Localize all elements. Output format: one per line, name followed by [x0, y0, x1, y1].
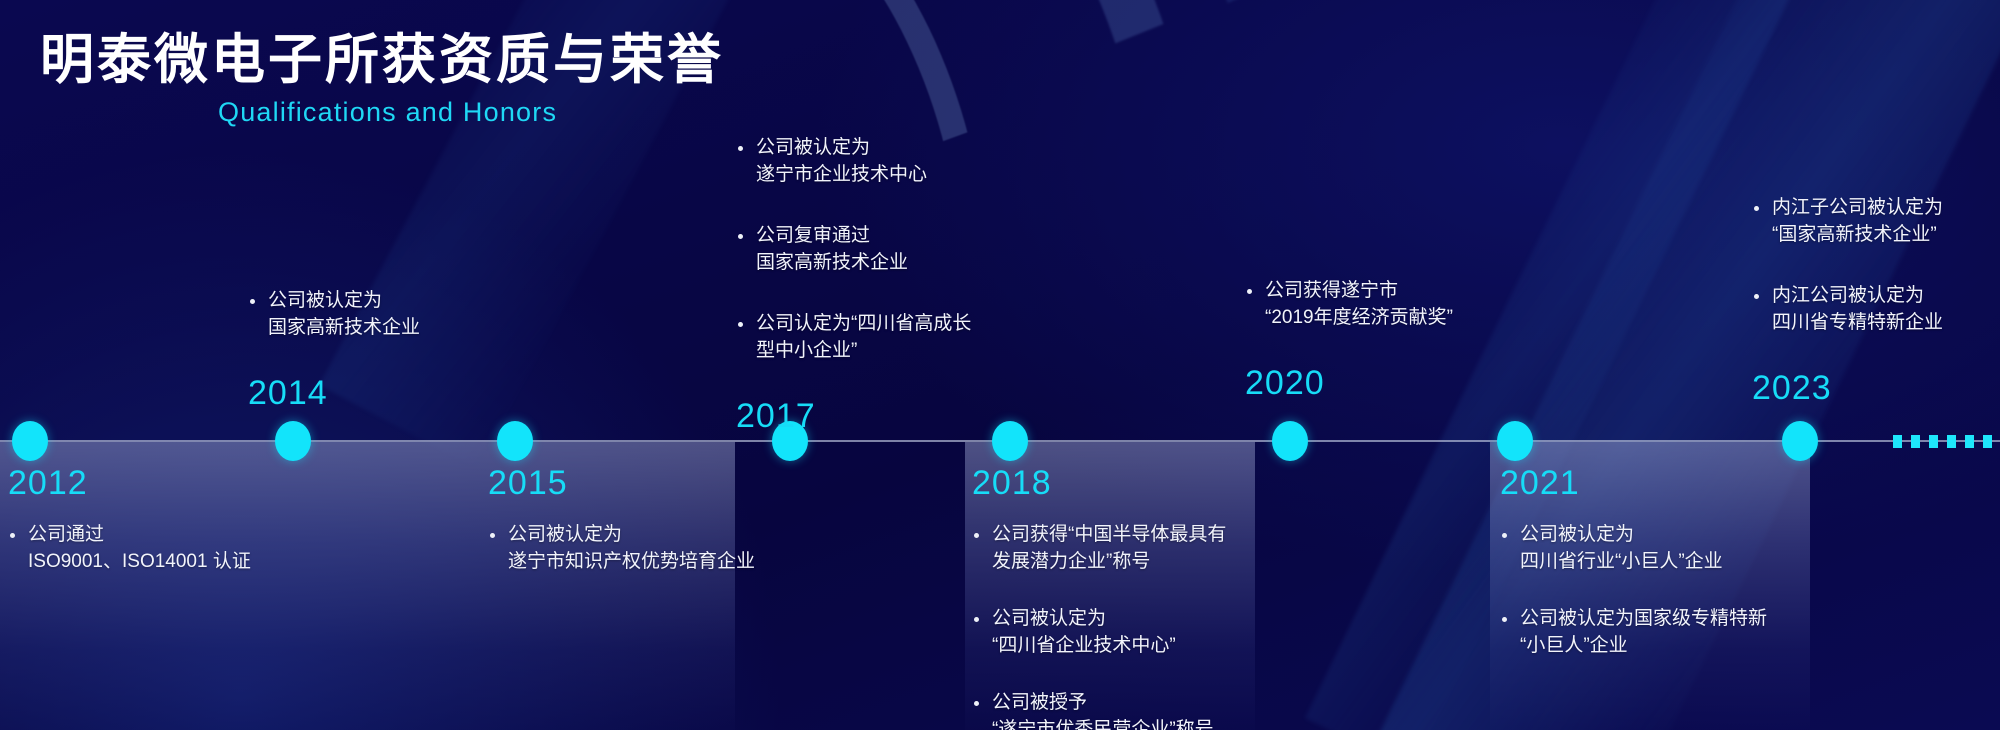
year-label: 2021: [1500, 466, 1800, 500]
timeline-node-2012[interactable]: [12, 421, 48, 461]
year-label: 2020: [1245, 366, 1565, 400]
timeline-event-2017[interactable]: 公司被认定为 遂宁市企业技术中心 公司复审通过 国家高新技术企业 公司认定为“四…: [736, 135, 1046, 433]
list-item: 公司通过 ISO9001、ISO14001 认证: [8, 522, 338, 576]
timeline-event-2014[interactable]: 公司被认定为 国家高新技术企业 2014: [248, 288, 548, 410]
list-item: 公司被认定为国家级专精特新 “小巨人”企业: [1500, 606, 1800, 660]
list-item: 公司被授予 “遂宁市优秀民营企业”称号: [972, 690, 1272, 730]
list-item: 内江子公司被认定为 “国家高新技术企业”: [1752, 195, 2000, 249]
year-label: 2014: [248, 376, 548, 410]
list-item: 公司复审通过 国家高新技术企业: [736, 223, 1046, 277]
year-label: 2012: [8, 466, 338, 500]
list-item: 公司被认定为 四川省行业“小巨人”企业: [1500, 522, 1800, 576]
timeline-event-2015[interactable]: 2015 公司被认定为 遂宁市知识产权优势培育企业: [488, 466, 758, 610]
bullet-list: 公司获得“中国半导体最具有 发展潜力企业”称号 公司被认定为 “四川省企业技术中…: [972, 522, 1272, 730]
bullet-list: 公司被认定为 国家高新技术企业: [248, 288, 548, 342]
list-item: 公司获得遂宁市 “2019年度经济贡献奖”: [1245, 278, 1565, 332]
bullet-list: 公司被认定为 遂宁市企业技术中心 公司复审通过 国家高新技术企业 公司认定为“四…: [736, 135, 1046, 365]
list-item: 公司被认定为 “四川省企业技术中心”: [972, 606, 1272, 660]
timeline-event-2020[interactable]: 公司获得遂宁市 “2019年度经济贡献奖” 2020: [1245, 278, 1565, 400]
timeline-event-2023[interactable]: 内江子公司被认定为 “国家高新技术企业” 内江公司被认定为 四川省专精特新企业 …: [1752, 195, 2000, 405]
timeline-event-2021[interactable]: 2021 公司被认定为 四川省行业“小巨人”企业 公司被认定为国家级专精特新 “…: [1500, 466, 1800, 690]
year-label: 2023: [1752, 371, 2000, 405]
header: 明泰微电子所获资质与荣誉 Qualifications and Honors: [40, 32, 724, 128]
list-item: 公司被认定为 遂宁市知识产权优势培育企业: [488, 522, 758, 576]
list-item: 内江公司被认定为 四川省专精特新企业: [1752, 283, 2000, 337]
timeline-node-2020[interactable]: [1272, 421, 1308, 461]
timeline-infographic: 明泰微电子所获资质与荣誉 Qualifications and Honors 公…: [0, 0, 2000, 730]
bullet-list: 公司被认定为 四川省行业“小巨人”企业 公司被认定为国家级专精特新 “小巨人”企…: [1500, 522, 1800, 660]
year-label: 2015: [488, 466, 758, 500]
list-item: 公司被认定为 国家高新技术企业: [248, 288, 548, 342]
bullet-list: 公司被认定为 遂宁市知识产权优势培育企业: [488, 522, 758, 576]
timeline-node-2015[interactable]: [497, 421, 533, 461]
page-subtitle: Qualifications and Honors: [218, 97, 724, 128]
bullet-list: 公司通过 ISO9001、ISO14001 认证: [8, 522, 338, 576]
list-item: 公司认定为“四川省高成长 型中小企业”: [736, 311, 1046, 365]
page-title: 明泰微电子所获资质与荣誉: [40, 32, 724, 89]
list-item: 公司被认定为 遂宁市企业技术中心: [736, 135, 1046, 189]
axis-end-dashes-icon: [1893, 435, 1992, 448]
timeline-node-2021[interactable]: [1497, 421, 1533, 461]
bullet-list: 公司获得遂宁市 “2019年度经济贡献奖”: [1245, 278, 1565, 332]
list-item: 公司获得“中国半导体最具有 发展潜力企业”称号: [972, 522, 1272, 576]
timeline-event-2012[interactable]: 2012 公司通过 ISO9001、ISO14001 认证: [8, 466, 338, 610]
year-label: 2017: [736, 399, 1046, 433]
timeline-node-2014[interactable]: [275, 421, 311, 461]
timeline-event-2018[interactable]: 2018 公司获得“中国半导体最具有 发展潜力企业”称号 公司被认定为 “四川省…: [972, 466, 1272, 730]
year-label: 2018: [972, 466, 1272, 500]
bullet-list: 内江子公司被认定为 “国家高新技术企业” 内江公司被认定为 四川省专精特新企业: [1752, 195, 2000, 337]
timeline-node-2023[interactable]: [1782, 421, 1818, 461]
